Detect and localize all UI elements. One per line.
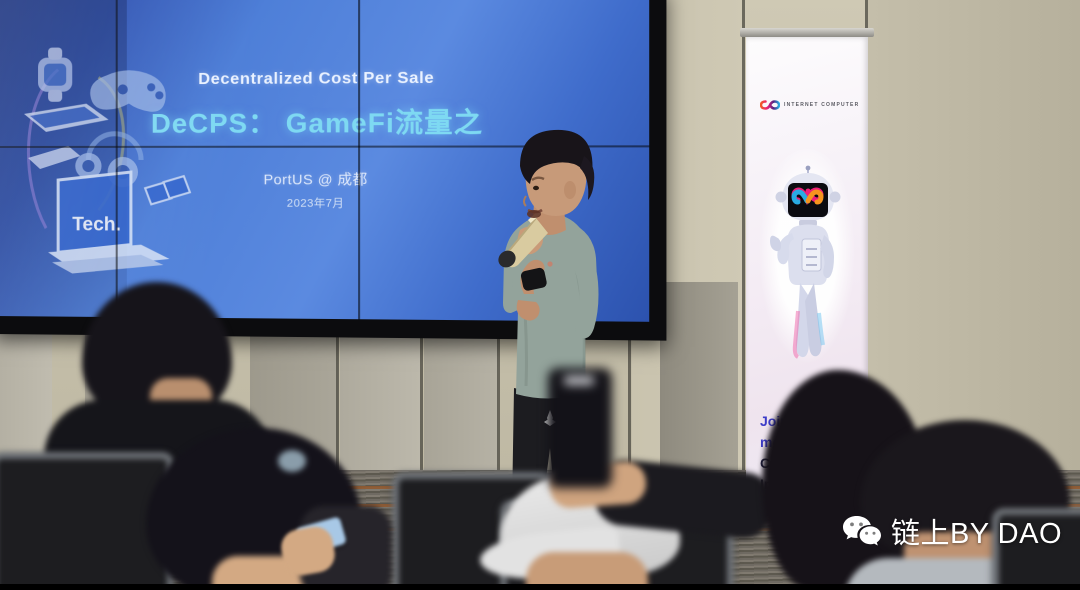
banner-logo-text: INTERNET COMPUTER bbox=[784, 102, 859, 108]
attendee-raised-arm-upper bbox=[548, 368, 612, 488]
watermark-text: 链上BY DAO bbox=[891, 510, 1062, 552]
hair-tie bbox=[278, 450, 306, 472]
watermark: 链上BY DAO bbox=[842, 510, 1062, 552]
speaker-head bbox=[520, 130, 594, 218]
video-wall-seam bbox=[116, 0, 118, 317]
slide-kicker: Decentralized Cost Per Sale bbox=[0, 68, 649, 90]
letterbox bbox=[0, 584, 1080, 590]
illustration-label: Tech. bbox=[72, 214, 121, 235]
slide-illustration: Tech. bbox=[2, 28, 215, 281]
attendee-shirt bbox=[548, 368, 612, 488]
astronaut-robot-icon bbox=[762, 163, 854, 378]
wechat-icon bbox=[842, 514, 882, 548]
banner-logo: INTERNET COMPUTER bbox=[760, 99, 859, 111]
photo-scene: Tech. Decentralized Cost Per Sale DeCPS：… bbox=[0, 0, 1080, 590]
attendee-ponytail-with-phone bbox=[132, 428, 422, 590]
banner-top-rail bbox=[740, 28, 874, 37]
shirt-print bbox=[564, 376, 594, 385]
video-wall-seam bbox=[358, 0, 360, 319]
infinity-icon bbox=[760, 99, 780, 111]
